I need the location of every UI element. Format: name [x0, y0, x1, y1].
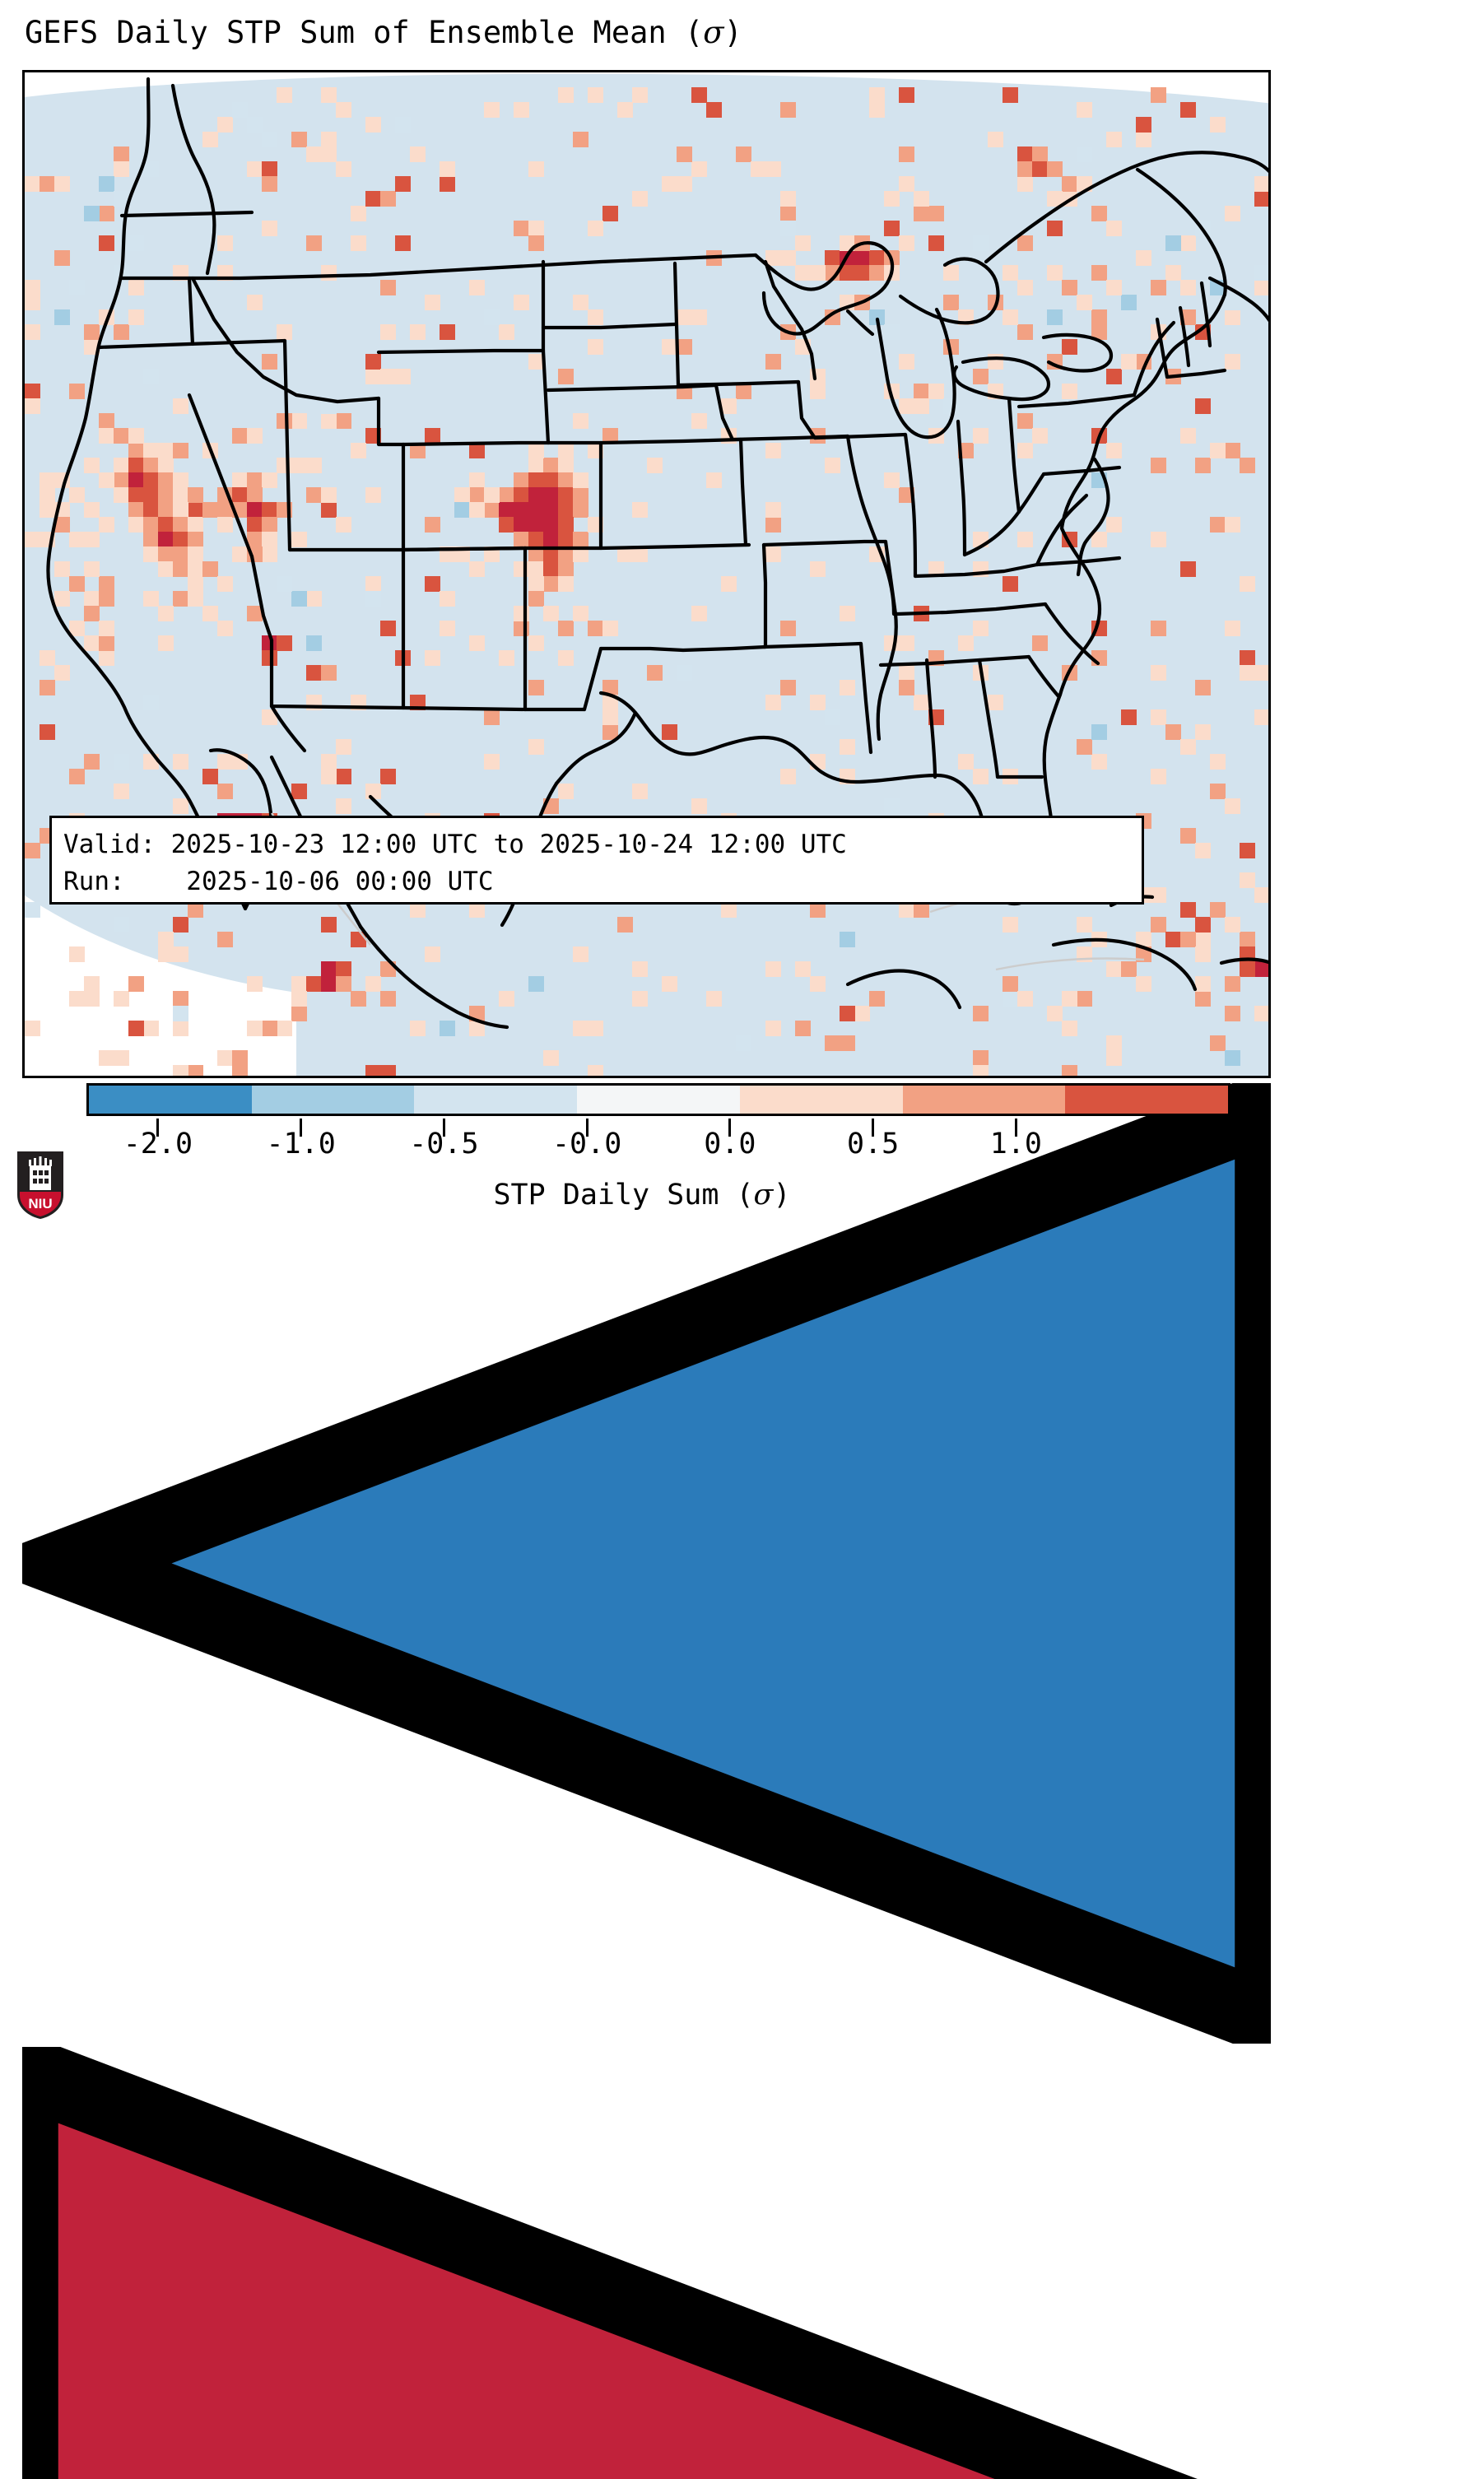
colorbar-tick-label-2: -0.5 — [409, 1128, 478, 1160]
colorbar-tick-label-5: 0.5 — [847, 1128, 899, 1160]
heatmap-cell — [1269, 191, 1271, 207]
colorbar-over-arrow — [22, 2047, 1271, 2479]
colorbar-tick-label-4: 0.0 — [704, 1128, 756, 1160]
colorbar-tick-label-6: 1.0 — [990, 1128, 1042, 1160]
heatmap-cell — [1269, 502, 1271, 518]
logo-text: NIU — [28, 1196, 52, 1212]
colorbar-label-paren: ) — [773, 1179, 790, 1212]
colorbar[interactable] — [22, 1083, 1271, 1119]
colorbar-tick-label-0: -2.0 — [123, 1128, 193, 1160]
sigma-symbol: σ — [703, 15, 723, 50]
heatmap-cell — [1269, 472, 1271, 488]
colorbar-tick-labels: -2.0-1.0-0.5-0.00.00.51.02.0 — [0, 1128, 1292, 1165]
heatmap-cell — [1269, 147, 1271, 162]
heatmap-cell — [1269, 147, 1271, 162]
colorbar-tick-label-3: -0.0 — [552, 1128, 621, 1160]
page-title-paren: ) — [723, 15, 742, 50]
heatmap-cell — [1269, 813, 1271, 829]
heatmap-cell — [1269, 591, 1271, 607]
heatmap-cell — [1269, 280, 1271, 295]
annotation-box: Valid: 2025-10-23 12:00 UTC to 2025-10-2… — [49, 816, 1144, 905]
colorbar-segment-4 — [740, 1086, 903, 1114]
heatmap-cell — [1269, 946, 1271, 962]
heatmap-cell — [1269, 635, 1271, 651]
colorbar-under-arrow — [22, 1083, 1271, 2044]
heatmap-cell — [1269, 858, 1271, 873]
graticule-line-3 — [996, 959, 1144, 970]
colorbar-label-text: STP Daily Sum ( — [493, 1179, 753, 1212]
run-time-line: Run: 2025-10-06 00:00 UTC — [63, 863, 1130, 900]
heatmap-cell — [1269, 413, 1271, 429]
heatmap-cell — [1269, 206, 1271, 221]
colorbar-segment-2 — [414, 1086, 577, 1114]
colorbar-segment-6 — [1065, 1086, 1228, 1114]
colorbar-axis-label: STP Daily Sum (σ) — [0, 1179, 1284, 1212]
heatmap-cell — [1269, 902, 1271, 918]
map-panel[interactable]: Valid: 2025-10-23 12:00 UTC to 2025-10-2… — [22, 70, 1271, 1078]
niu-logo: NIU — [15, 1149, 66, 1221]
colorbar-segment-1 — [252, 1086, 415, 1114]
colorbar-segment-0 — [89, 1086, 252, 1114]
heatmap-cell — [1269, 769, 1271, 784]
colorbar-segment-3 — [577, 1086, 740, 1114]
colorbar-segments — [86, 1083, 1230, 1116]
heatmap-cell — [1269, 858, 1271, 873]
colorbar-segment-5 — [903, 1086, 1066, 1114]
colorbar-tick-label-1: -1.0 — [266, 1128, 335, 1160]
colorbar-tick-label-7: 2.0 — [1133, 1128, 1185, 1160]
heatmap-cell — [1269, 1065, 1271, 1078]
sigma-symbol-colorbar: σ — [754, 1179, 774, 1212]
heatmap-cell — [1269, 1065, 1271, 1078]
heatmap-cell — [1269, 680, 1271, 695]
heatmap-cell — [1269, 369, 1271, 384]
heatmap-cell — [1269, 991, 1271, 1007]
page-title-text: GEFS Daily STP Sum of Ensemble Mean ( — [25, 15, 703, 50]
map-graticule-layer — [25, 72, 1271, 1078]
heatmap-cell — [1269, 561, 1271, 577]
heatmap-cell — [1269, 235, 1271, 251]
valid-time-line: Valid: 2025-10-23 12:00 UTC to 2025-10-2… — [63, 826, 1130, 863]
heatmap-cell — [1269, 324, 1271, 340]
page-title: GEFS Daily STP Sum of Ensemble Mean (σ) — [25, 15, 742, 50]
